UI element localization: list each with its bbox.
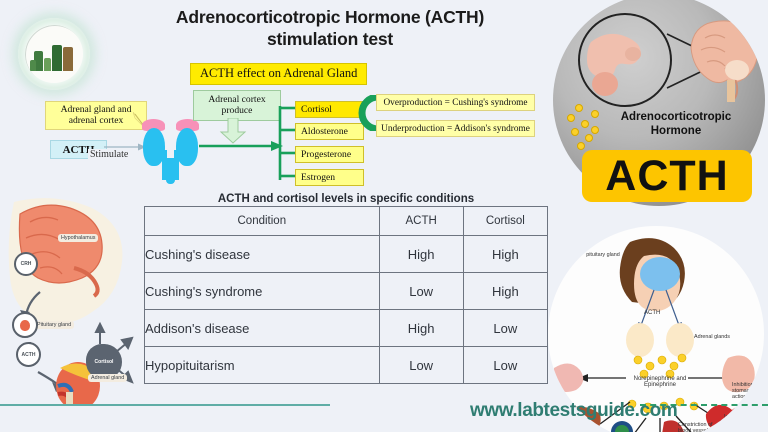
cell-condition: Cushing's syndrome <box>145 273 380 310</box>
divider-line-left <box>0 404 330 406</box>
hormone-item-progesterone: Progesterone <box>295 146 364 163</box>
watermark-url: www.labtestsguide.com <box>470 400 677 422</box>
table-row: Cushing's syndrome Low High <box>145 273 548 310</box>
hormone-item-aldosterone: Aldosterone <box>295 123 364 140</box>
table-title: ACTH and cortisol levels in specific con… <box>144 193 548 205</box>
family-silhouette-icon <box>44 58 51 71</box>
callout-adrenal-gland: Adrenal gland and adrenal cortex <box>45 101 147 130</box>
column-header-condition: Condition <box>145 207 380 236</box>
family-silhouette-icon <box>63 47 73 71</box>
hormone-item-estrogen: Estrogen <box>295 169 364 186</box>
infographic-canvas: Adrenocorticotropic Hormone (ACTH) stimu… <box>0 0 768 432</box>
syndrome-overproduction: Overproduction = Cushing's syndrome <box>376 94 535 111</box>
table-row: Cushing's disease High High <box>145 236 548 273</box>
cell-acth: Low <box>379 273 463 310</box>
acth-subtitle-line1: Adrenocorticotropic <box>592 110 760 124</box>
flowchart-banner: ACTH effect on Adrenal Gland <box>190 63 367 85</box>
site-logo <box>18 18 90 90</box>
family-silhouette-icon <box>52 45 62 71</box>
label-catecholamines: Norepinephrine and Epinephrine <box>624 376 696 388</box>
column-header-acth: ACTH <box>379 207 463 236</box>
hormone-dot <box>567 114 575 122</box>
hormone-bracket <box>277 104 297 182</box>
page-title-line1: Adrenocorticotropic Hormone (ACTH) <box>120 6 540 28</box>
syndrome-underproduction: Underproduction = Addison's syndrome <box>376 120 535 137</box>
label-pituitary-gland: pituitary gland <box>586 252 620 258</box>
cell-acth: High <box>379 236 463 273</box>
cell-condition: Cushing's disease <box>145 236 380 273</box>
pituitary-icon <box>20 320 30 331</box>
cell-cortisol: High <box>463 273 547 310</box>
hpa-node-acth: ACTH <box>16 342 41 367</box>
hpa-label-pituitary: Pituitary gland <box>34 321 74 329</box>
stimulate-arrow <box>104 141 146 153</box>
hpa-label-hypothalamus: Hypothalamus <box>58 234 98 242</box>
cell-cortisol: Low <box>463 310 547 347</box>
hormone-dot <box>571 128 579 136</box>
cell-condition: Addison's disease <box>145 310 380 347</box>
cell-acth: Low <box>379 347 463 384</box>
acth-circle-subtitle: Adrenocorticotropic Hormone <box>592 110 760 138</box>
acth-acronym-text: ACTH <box>605 155 728 198</box>
hpa-node-pituitary-icon <box>12 312 38 338</box>
acth-subtitle-line2: Hormone <box>592 124 760 138</box>
hormone-item-cortisol: Cortisol <box>295 101 364 118</box>
kidney-right <box>176 128 198 166</box>
label-heart-rate: Increased heart rate <box>724 414 758 426</box>
hormone-dot <box>575 104 583 112</box>
adrenal-cortex-produce-box: Adrenal cortex produce <box>193 90 281 121</box>
page-title: Adrenocorticotropic Hormone (ACTH) stimu… <box>120 6 540 50</box>
label-stomach-inhibition: Inhibition of stomach action <box>732 382 762 400</box>
cell-cortisol: High <box>463 236 547 273</box>
hormone-dot <box>581 120 589 128</box>
cell-condition: Hypopituitarism <box>145 347 380 384</box>
acth-acronym-pill: ACTH <box>582 150 752 202</box>
hpa-label-adrenal-gland: Adrenal gland <box>88 374 127 382</box>
family-silhouette-icon <box>30 60 36 71</box>
hormone-dot <box>577 142 585 150</box>
logo-inner-disc <box>25 25 83 83</box>
table-row: Addison's disease High Low <box>145 310 548 347</box>
table-row: Hypopituitarism Low Low <box>145 347 548 384</box>
page-title-line2: stimulation test <box>120 28 540 50</box>
column-header-cortisol: Cortisol <box>463 207 547 236</box>
table-header-row: Condition ACTH Cortisol <box>145 207 548 236</box>
label-adrenal-glands: Adrenal glands <box>694 334 730 340</box>
adrenal-to-hormones-arrow <box>199 140 283 152</box>
label-vasoconstriction: Constriction of blood vessels <box>678 422 714 432</box>
cell-acth: High <box>379 310 463 347</box>
acth-cortisol-table: Condition ACTH Cortisol Cushing's diseas… <box>144 206 548 384</box>
hpa-node-crh: CRH <box>14 252 38 276</box>
bladder-stem <box>166 158 175 184</box>
label-acth: ACTH <box>644 310 660 316</box>
cell-cortisol: Low <box>463 347 547 384</box>
hpa-axis-panel: Hypothalamus CRH Pituitary gland ACTH Co… <box>0 196 148 406</box>
brain-illustration <box>681 14 763 104</box>
